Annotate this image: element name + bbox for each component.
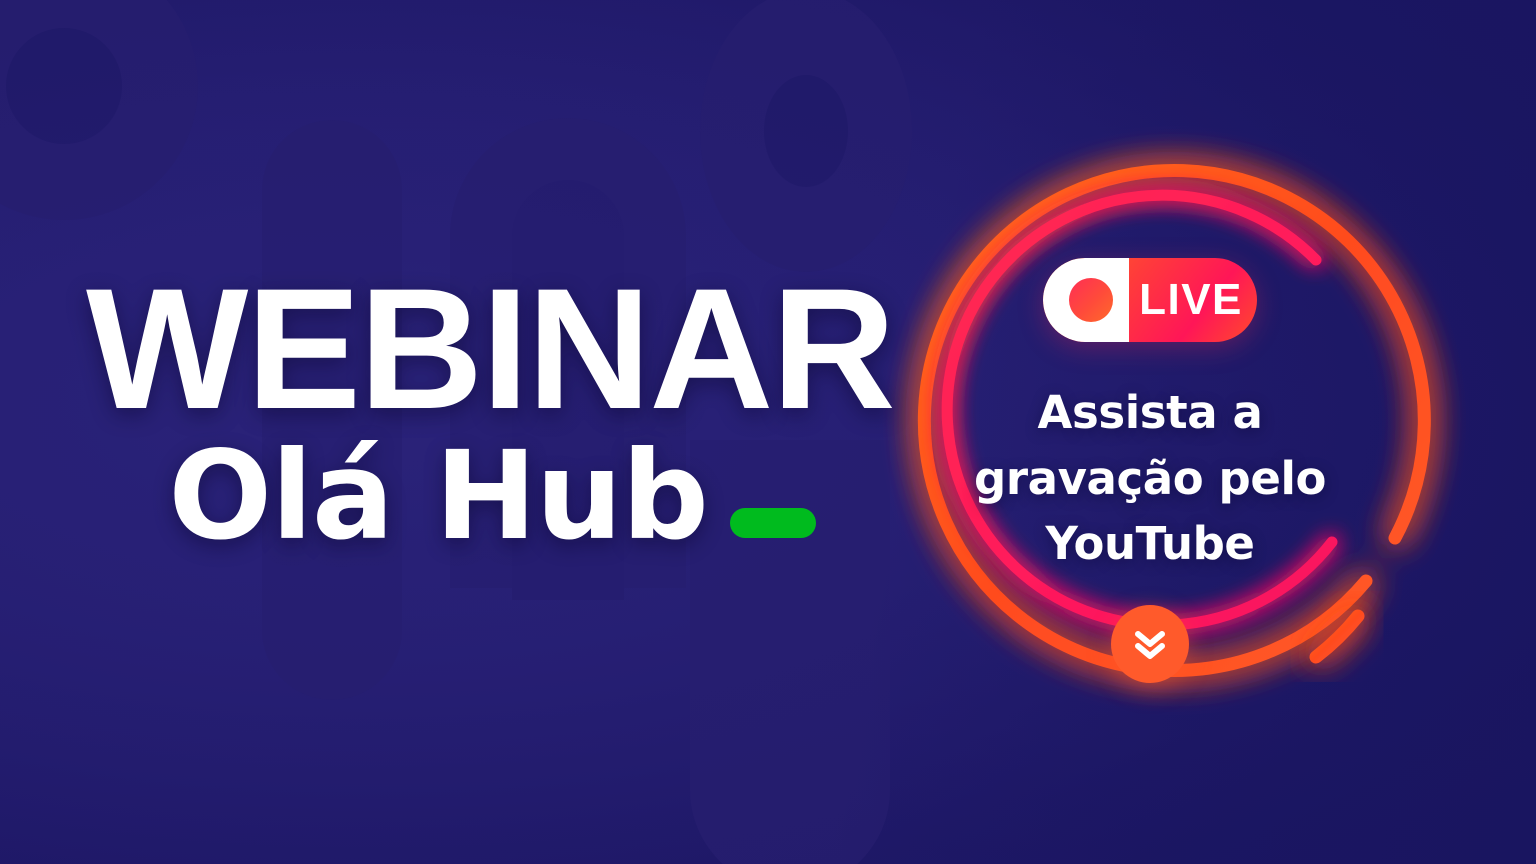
record-dot-icon: [1069, 278, 1113, 322]
message-line-1: Assista a: [940, 380, 1360, 446]
live-badge-label: LIVE: [1139, 258, 1257, 342]
webinar-promo-slide: WEBINAR Olá Hub LIVE Assista a gravação …: [0, 0, 1536, 864]
live-panel: LIVE Assista a gravação pelo YouTube: [940, 258, 1360, 683]
live-status-badge: LIVE: [1043, 258, 1257, 342]
double-chevron-down-icon: [1129, 623, 1171, 665]
watch-recording-message: Assista a gravação pelo YouTube: [940, 380, 1360, 577]
page-title: WEBINAR: [86, 276, 886, 424]
green-cursor-bar-icon: [730, 508, 816, 538]
subtitle-row: Olá Hub: [86, 440, 886, 552]
page-subtitle: Olá Hub: [168, 440, 708, 552]
headline-block: WEBINAR Olá Hub: [86, 276, 886, 552]
message-line-3: YouTube: [940, 511, 1360, 577]
message-line-2: gravação pelo: [940, 446, 1360, 512]
scroll-down-button[interactable]: [1111, 605, 1189, 683]
